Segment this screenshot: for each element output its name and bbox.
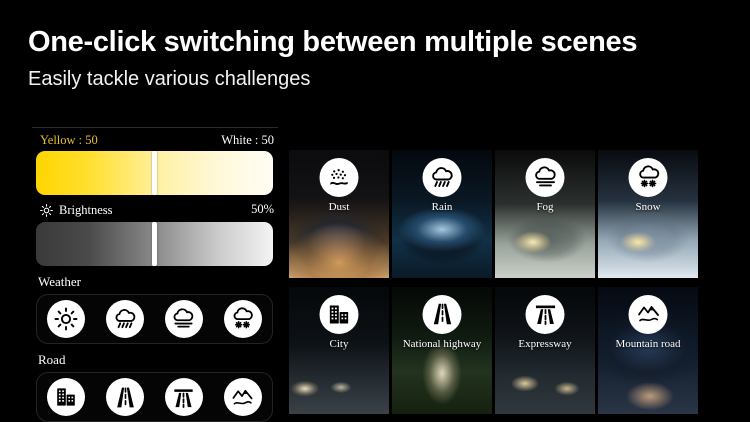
scene-card-national-highway[interactable]: National highway bbox=[392, 287, 492, 415]
brightness-row: Brightness 50% bbox=[32, 202, 278, 222]
weather-group-label: Weather bbox=[38, 274, 278, 290]
yellow-value-label: Yellow : 50 bbox=[40, 133, 98, 148]
sun-icon bbox=[54, 307, 78, 331]
scene-card-fog[interactable]: Fog bbox=[495, 150, 595, 278]
road-group-label: Road bbox=[38, 352, 278, 368]
scene-card-snow[interactable]: Snow bbox=[598, 150, 698, 278]
scene-label: City bbox=[289, 338, 389, 350]
curved-road-icon bbox=[423, 295, 462, 334]
road-option-expressway[interactable] bbox=[165, 378, 203, 416]
page-subtitle: Easily tackle various challenges bbox=[28, 68, 310, 91]
city-buildings-icon bbox=[320, 295, 359, 334]
expressway-icon bbox=[171, 385, 196, 410]
brightness-label: Brightness bbox=[59, 203, 112, 218]
dust-icon bbox=[320, 158, 359, 197]
road-option-national-highway[interactable] bbox=[106, 378, 144, 416]
mountain-road-icon bbox=[230, 385, 255, 410]
snow-cloud-icon bbox=[230, 307, 255, 332]
weather-option-snow[interactable] bbox=[224, 300, 262, 338]
fog-cloud-icon bbox=[171, 307, 196, 332]
road-option-mountain-road[interactable] bbox=[224, 378, 262, 416]
control-panel: Yellow : 50 White : 50 Brightness 50% We… bbox=[32, 127, 278, 410]
scene-label: National highway bbox=[392, 338, 492, 350]
color-slider-handle[interactable] bbox=[152, 151, 157, 195]
sun-icon bbox=[40, 204, 53, 217]
color-temperature-slider[interactable] bbox=[36, 151, 273, 195]
scene-label: Snow bbox=[598, 201, 698, 213]
scene-grid: Dust Rain Fog bbox=[289, 150, 698, 414]
scene-label: Fog bbox=[495, 201, 595, 213]
weather-option-rain[interactable] bbox=[106, 300, 144, 338]
curved-road-icon bbox=[113, 385, 138, 410]
scene-card-city[interactable]: City bbox=[289, 287, 389, 415]
brightness-slider-handle[interactable] bbox=[152, 222, 157, 266]
brightness-slider[interactable] bbox=[36, 222, 273, 266]
scene-label: Rain bbox=[392, 201, 492, 213]
road-icon-bar bbox=[36, 372, 273, 422]
mountain-road-icon bbox=[629, 295, 668, 334]
scene-card-mountain-road[interactable]: Mountain road bbox=[598, 287, 698, 415]
weather-option-sunny[interactable] bbox=[47, 300, 85, 338]
city-buildings-icon bbox=[54, 385, 78, 409]
color-slider-labels: Yellow : 50 White : 50 bbox=[32, 133, 278, 151]
page-title: One-click switching between multiple sce… bbox=[28, 26, 637, 59]
weather-icon-bar bbox=[36, 294, 273, 344]
rain-cloud-icon bbox=[113, 307, 138, 332]
scene-card-rain[interactable]: Rain bbox=[392, 150, 492, 278]
scene-label: Mountain road bbox=[598, 338, 698, 350]
scene-label: Dust bbox=[289, 201, 389, 213]
rain-cloud-icon bbox=[423, 158, 462, 197]
scene-card-expressway[interactable]: Expressway bbox=[495, 287, 595, 415]
snow-cloud-icon bbox=[629, 158, 668, 197]
brightness-value-label: 50% bbox=[251, 202, 274, 217]
white-value-label: White : 50 bbox=[221, 133, 274, 148]
scene-card-dust[interactable]: Dust bbox=[289, 150, 389, 278]
expressway-icon bbox=[526, 295, 565, 334]
fog-cloud-icon bbox=[526, 158, 565, 197]
weather-option-fog[interactable] bbox=[165, 300, 203, 338]
road-option-city[interactable] bbox=[47, 378, 85, 416]
scene-label: Expressway bbox=[495, 338, 595, 350]
